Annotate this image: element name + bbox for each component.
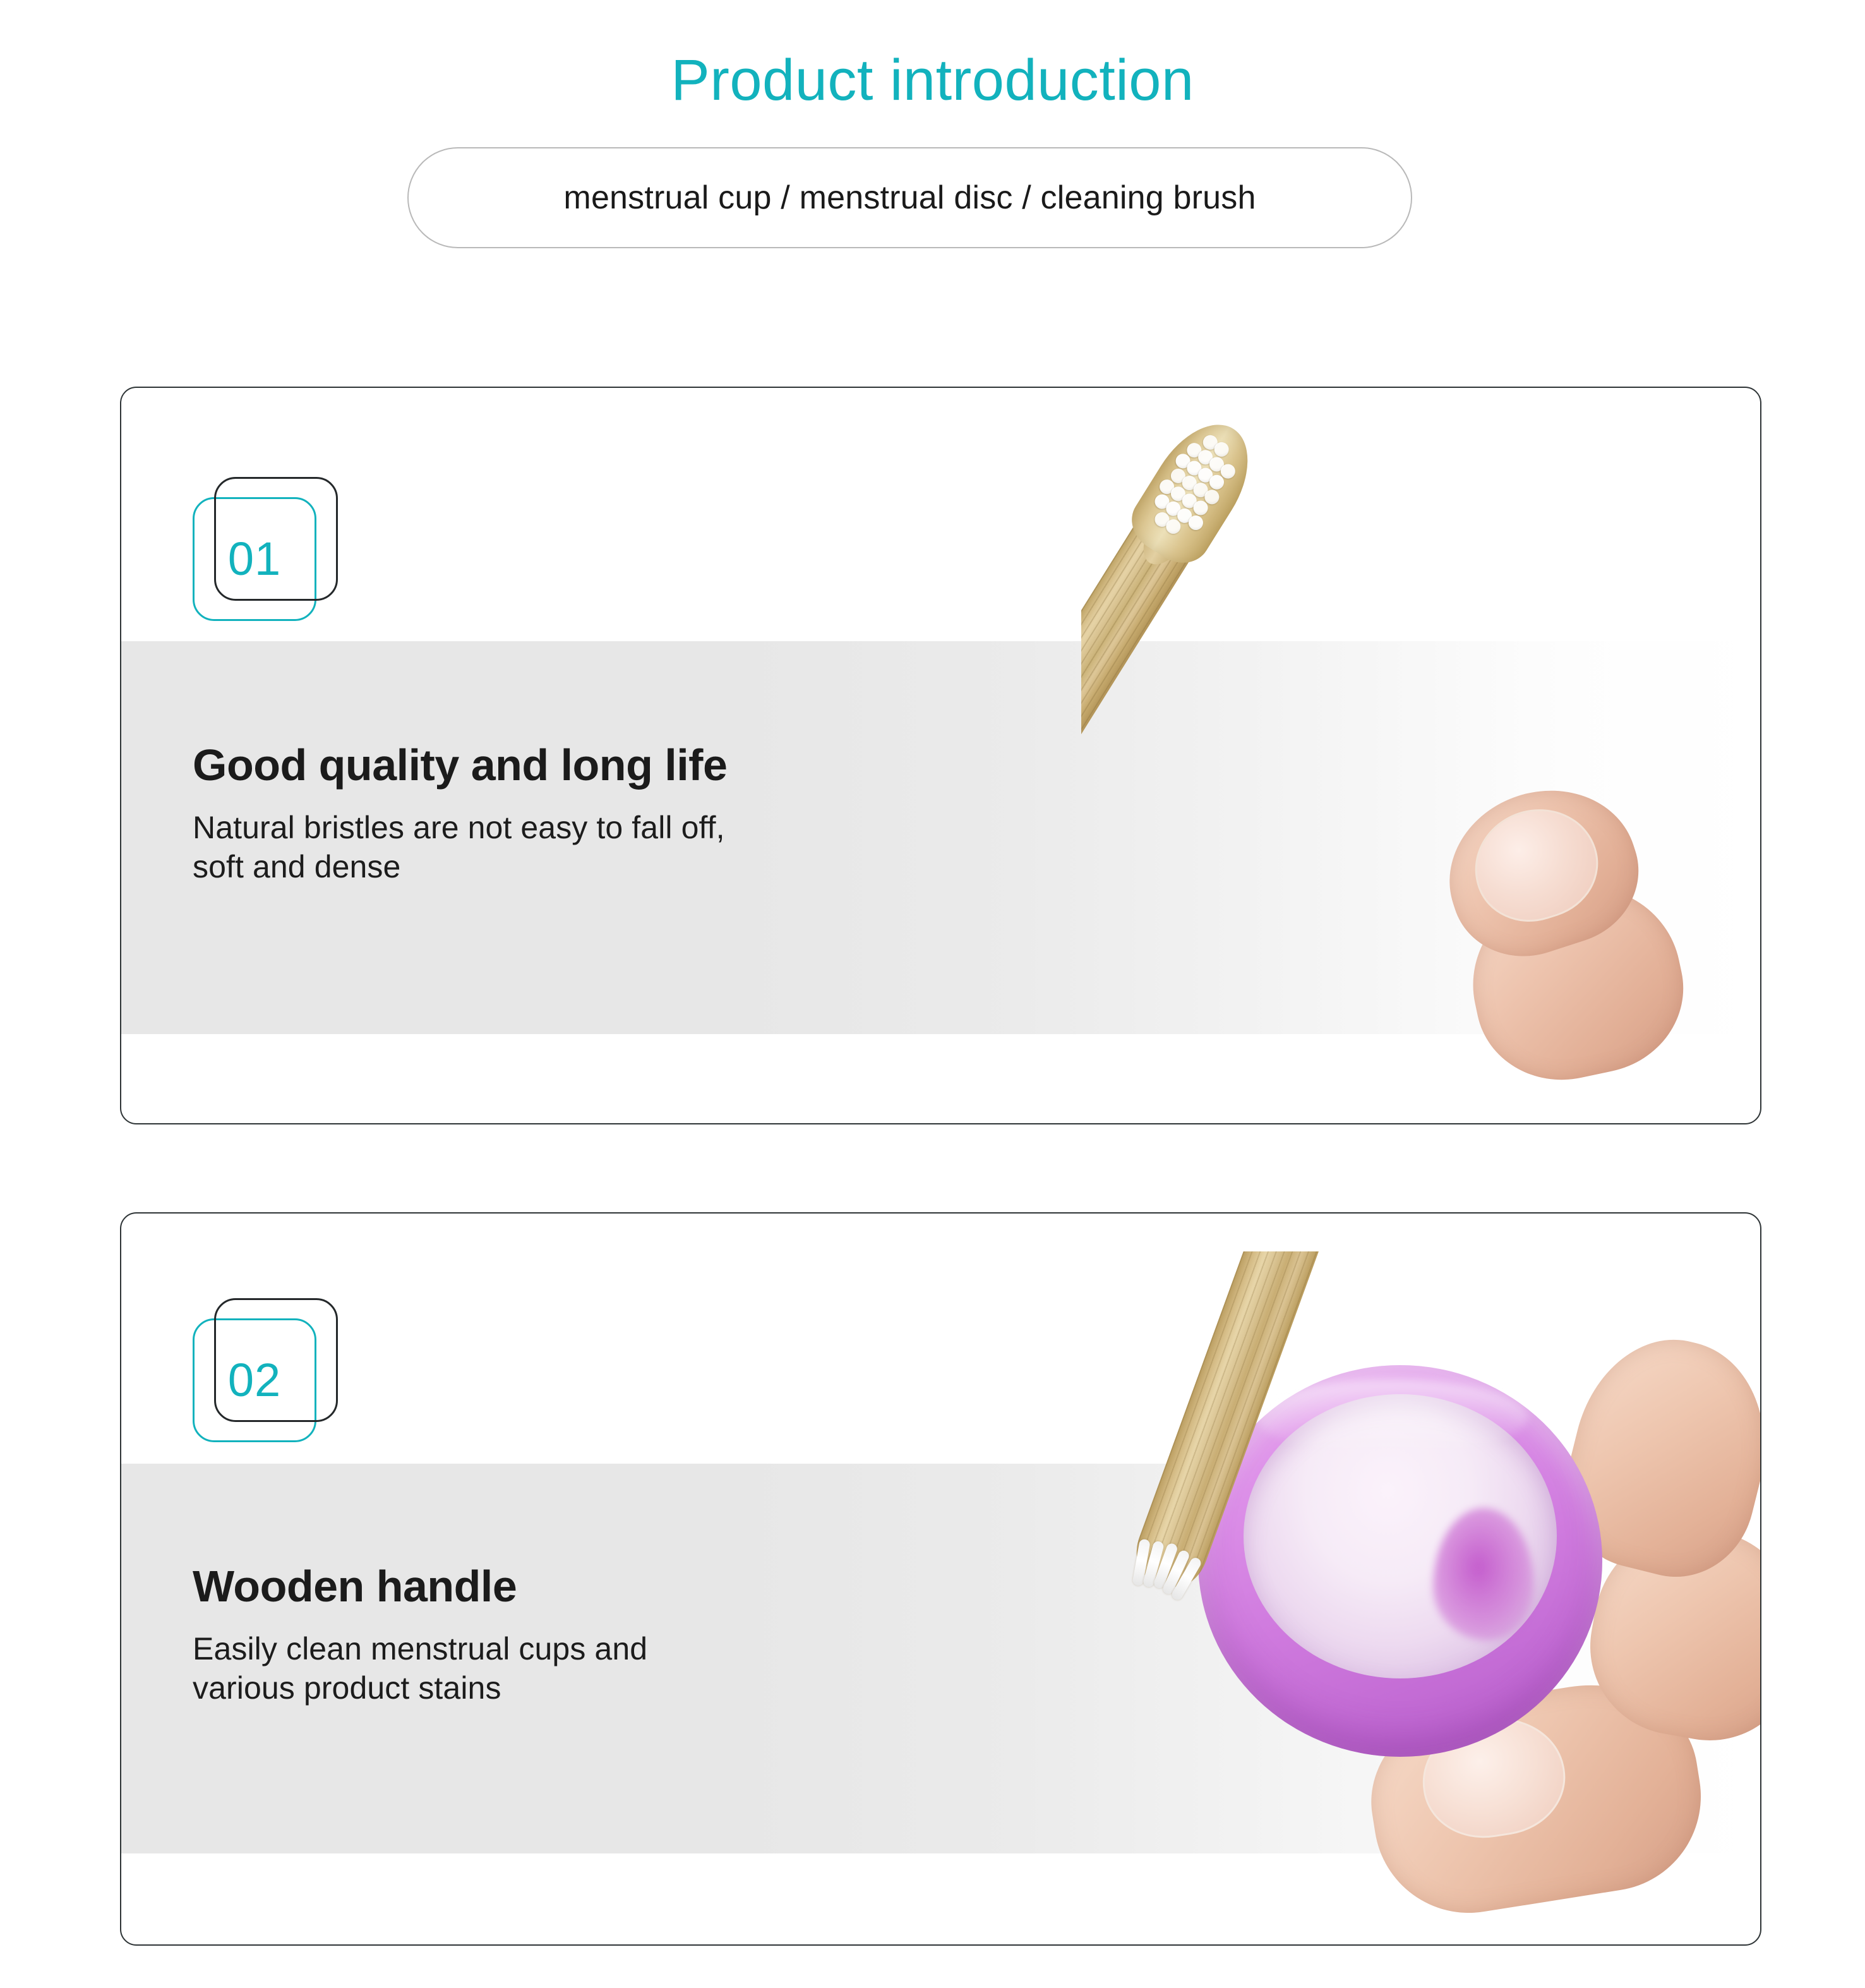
feature-number-badge: 01 [193,477,338,621]
brush-neck [1133,472,1216,573]
bristle-tuft [1184,458,1204,478]
bristle-tuft [1168,484,1189,504]
badge-number-label: 01 [193,497,316,621]
bristle-tuft [1202,487,1222,507]
bristle-tuft [1196,447,1216,467]
feature-heading: Good quality and long life [193,738,1014,792]
bristle-tuft [1190,498,1211,518]
subtitle-text: menstrual cup / menstrual disc / cleanin… [563,179,1256,217]
bristle-tuft [1186,513,1206,533]
bristle-tuft [1196,465,1216,485]
feature-card-02: 02 Wooden handle Easily clean menstrual … [120,1212,1761,1946]
bristle-tuft [1163,517,1184,537]
feature-text-block: Good quality and long life Natural brist… [193,738,1014,886]
bristle-tuft [1179,473,1199,493]
bristle-tuft [1168,466,1189,486]
bristle-tuft [1207,472,1227,492]
bristle-tuft [1152,510,1172,530]
subtitle-pill: menstrual cup / menstrual disc / cleanin… [407,147,1412,248]
feature-text-block: Wooden handle Easily clean menstrual cup… [193,1560,1014,1708]
bristle-tuft [1157,477,1177,497]
bristle-tuft [1190,480,1211,500]
bristle-tuft [1152,491,1172,512]
bristle-tuft [1163,498,1184,519]
bristle-tuft [1179,491,1199,511]
feature-card-01: 01 Good quality and long life Natural br… [120,387,1761,1124]
feature-number-badge: 02 [193,1298,338,1442]
page-title: Product introduction [0,45,1865,115]
brush-bristles [1136,425,1245,552]
bristle-tuft [1184,440,1204,461]
bristle-tuft [1173,451,1193,471]
bristle-tuft [1175,506,1195,526]
feature-description: Easily clean menstrual cups and various … [193,1629,1014,1708]
bristle-tuft [1211,440,1232,460]
bristle-tuft [1218,461,1238,481]
bristle-tuft [1207,454,1227,474]
feature-heading: Wooden handle [193,1560,1014,1613]
bristle-tuft [1200,432,1220,452]
cup-rim-highlight [1256,1379,1528,1455]
feature-description: Natural bristles are not easy to fall of… [193,808,1014,886]
brush-head [1121,407,1269,574]
badge-number-label: 02 [193,1318,316,1442]
